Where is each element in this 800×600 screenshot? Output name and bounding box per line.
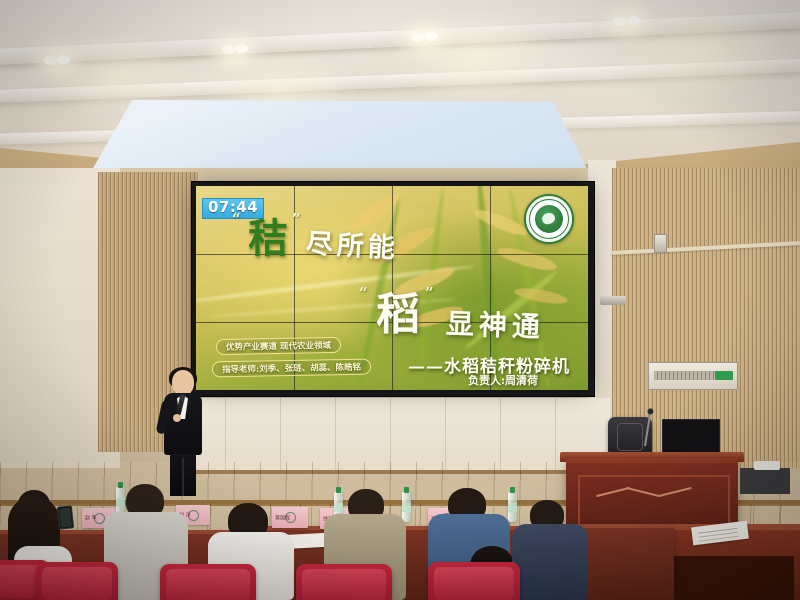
ceiling-spotlight (614, 17, 627, 26)
quote-open-2: “ (359, 284, 368, 302)
slide-advisors-pill: 指导老师:刘季、张琏、胡蕊、陈皓铭 (212, 359, 371, 378)
water-bottle (508, 492, 517, 522)
water-bottle (402, 492, 411, 522)
podium-front-panel (578, 475, 730, 527)
wall-electrical-panel[interactable] (648, 362, 738, 390)
panel-green-label (715, 371, 733, 380)
wall-hook (600, 296, 626, 305)
university-emblem-icon (524, 194, 574, 244)
ceiling-spotlight (425, 32, 438, 41)
ceiling-glow-2 (390, 10, 560, 105)
breaker-slots (654, 371, 716, 380)
ceiling-spotlight (627, 16, 640, 25)
slide-track-pill: 优势产业赛道 现代农业领域 (216, 337, 341, 355)
quote-close-1: ” (292, 210, 301, 228)
quote-open-1: “ (232, 210, 241, 228)
ceiling-spotlight (412, 33, 425, 42)
placard-label: 黄国程 (275, 514, 290, 521)
ceiling-spotlight (235, 44, 248, 53)
ceiling-spotlight (44, 56, 57, 65)
auditorium-seat[interactable] (160, 564, 256, 600)
screenshot-root: 07:44 “ 秸 ” 尽所能 “ 稻 ” 显神通 优势产业赛道 现代农业领域 … (0, 0, 800, 600)
ceiling-spotlight (57, 55, 70, 64)
slide-leader-line: 负责人:周清荷 (468, 372, 538, 388)
smartphone (57, 505, 74, 529)
ceiling-spotlight (222, 45, 235, 54)
slide-title-jie: 秸 (248, 206, 288, 264)
wall-mount-bracket (654, 234, 667, 253)
placard-label: 赵 军 (85, 515, 97, 522)
presenter-head (172, 370, 194, 395)
projector-cart[interactable] (740, 468, 790, 494)
auditorium-seat[interactable] (36, 562, 118, 600)
side-desk-shelf (674, 556, 794, 600)
slide-title-dao: 稻 (376, 278, 420, 342)
quote-close-2: ” (425, 284, 434, 302)
video-wall-display[interactable]: 07:44 “ 秸 ” 尽所能 “ 稻 ” 显神通 优势产业赛道 现代农业领域 … (196, 186, 588, 390)
auditorium-seat[interactable] (296, 564, 392, 600)
presenter (159, 370, 207, 495)
podium-monitor[interactable] (662, 419, 720, 454)
auditorium-seat[interactable] (428, 562, 520, 600)
slide-title-jinsuoneng: 尽所能 (305, 222, 400, 266)
slide-title-xianshentong: 显神通 (445, 302, 545, 345)
name-placard: 黄国程 (272, 507, 308, 528)
presenter-hand (173, 414, 181, 422)
presenter-trousers (170, 454, 196, 496)
